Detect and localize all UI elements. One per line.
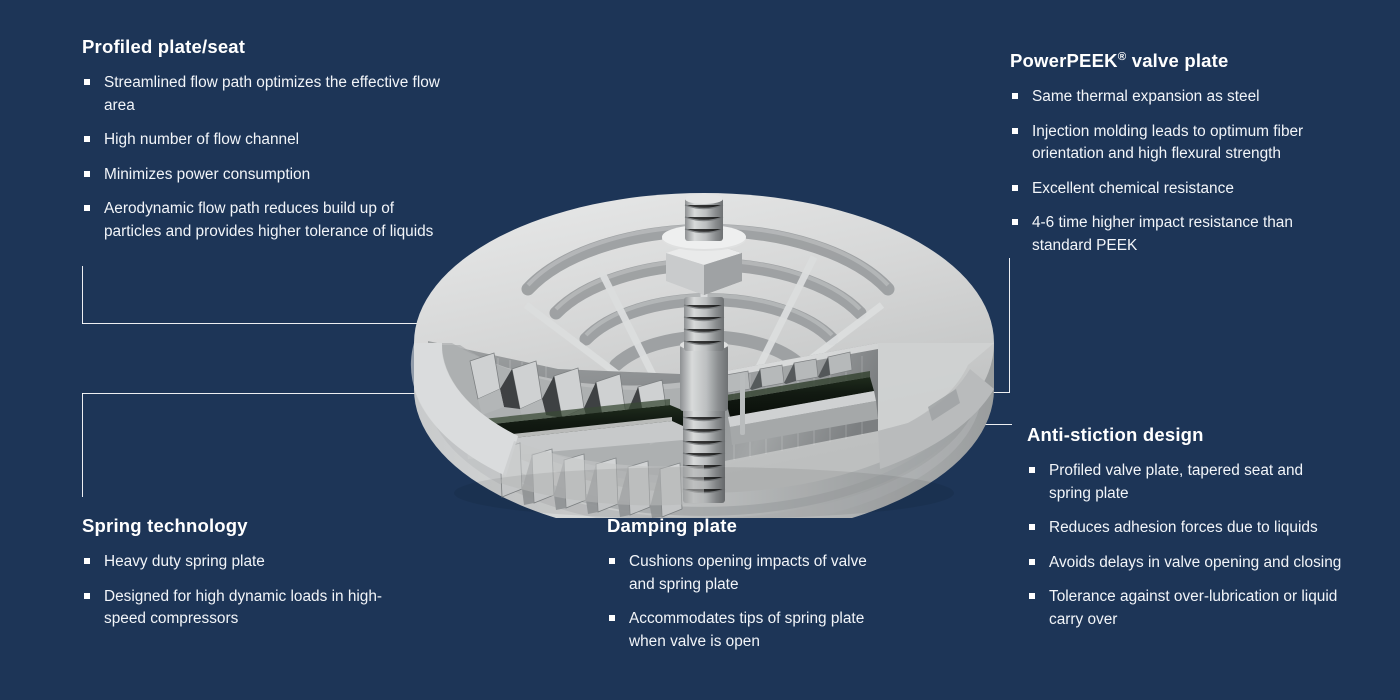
list-item-text: Designed for high dynamic loads in high-… — [104, 588, 382, 627]
bullet-icon — [1029, 593, 1035, 599]
leader-profiled-vertical — [82, 266, 83, 324]
list-item-text: High number of flow channel — [104, 131, 299, 148]
feature-block-damping-plate: Damping plate Cushions opening impacts o… — [607, 515, 867, 653]
list-item: Tolerance against over-lubrication or li… — [1027, 586, 1347, 631]
list-item: Reduces adhesion forces due to liquids — [1027, 517, 1347, 539]
bullet-icon — [84, 593, 90, 599]
list-item-text: Injection molding leads to optimum fiber… — [1032, 123, 1303, 162]
list-item-text: Cushions opening impacts of valve and sp… — [629, 553, 867, 592]
bullet-icon — [84, 136, 90, 142]
bullet-icon — [1012, 128, 1018, 134]
diagram-canvas: Profiled plate/seat Streamlined flow pat… — [0, 0, 1400, 700]
list-item: Streamlined flow path optimizes the effe… — [82, 72, 442, 117]
list-item-text: Profiled valve plate, tapered seat and s… — [1049, 462, 1303, 501]
list-item-text: Aerodynamic flow path reduces build up o… — [104, 200, 433, 239]
feature-block-powerpeek-valve-plate: PowerPEEK® valve plate Same thermal expa… — [1010, 50, 1350, 257]
bullet-icon — [84, 171, 90, 177]
list-item-text: 4-6 time higher impact resistance than s… — [1032, 214, 1293, 253]
list-item: Same thermal expansion as steel — [1010, 86, 1350, 108]
feature-title-powerpeek-valve-plate: PowerPEEK® valve plate — [1010, 50, 1350, 72]
list-item-text: Avoids delays in valve opening and closi… — [1049, 554, 1341, 571]
bullet-icon — [1012, 219, 1018, 225]
compressor-valve-illustration — [408, 193, 998, 518]
list-item-text: Tolerance against over-lubrication or li… — [1049, 588, 1337, 627]
list-item: Designed for high dynamic loads in high-… — [82, 586, 412, 631]
bullet-icon — [1029, 524, 1035, 530]
feature-list-profiled-plate-seat: Streamlined flow path optimizes the effe… — [82, 72, 442, 243]
feature-title-profiled-plate-seat: Profiled plate/seat — [82, 36, 442, 58]
list-item: Excellent chemical resistance — [1010, 178, 1350, 200]
list-item: Injection molding leads to optimum fiber… — [1010, 121, 1350, 166]
bullet-icon — [84, 558, 90, 564]
list-item: Minimizes power consumption — [82, 164, 442, 186]
list-item-text: Same thermal expansion as steel — [1032, 88, 1260, 105]
feature-title-damping-plate: Damping plate — [607, 515, 867, 537]
list-item: 4-6 time higher impact resistance than s… — [1010, 212, 1350, 257]
feature-list-spring-technology: Heavy duty spring plate Designed for hig… — [82, 551, 412, 630]
title-suffix: valve plate — [1126, 50, 1228, 71]
list-item-text: Streamlined flow path optimizes the effe… — [104, 74, 440, 113]
list-item-text: Minimizes power consumption — [104, 166, 310, 183]
list-item-text: Heavy duty spring plate — [104, 553, 265, 570]
list-item-text: Accommodates tips of spring plate when v… — [629, 610, 864, 649]
bullet-icon — [609, 558, 615, 564]
feature-list-powerpeek-valve-plate: Same thermal expansion as steel Injectio… — [1010, 86, 1350, 257]
list-item: Cushions opening impacts of valve and sp… — [607, 551, 867, 596]
bullet-icon — [84, 205, 90, 211]
bullet-icon — [1029, 467, 1035, 473]
list-item: Avoids delays in valve opening and closi… — [1027, 552, 1347, 574]
leader-powerpeek-vertical — [1009, 258, 1010, 392]
list-item-text: Reduces adhesion forces due to liquids — [1049, 519, 1318, 536]
leader-profiled-horizontal — [82, 323, 440, 324]
feature-title-anti-stiction-design: Anti-stiction design — [1027, 424, 1347, 446]
bullet-icon — [609, 615, 615, 621]
list-item: Heavy duty spring plate — [82, 551, 412, 573]
bullet-icon — [1029, 559, 1035, 565]
bullet-icon — [1012, 93, 1018, 99]
list-item: Profiled valve plate, tapered seat and s… — [1027, 460, 1347, 505]
feature-title-spring-technology: Spring technology — [82, 515, 412, 537]
feature-list-damping-plate: Cushions opening impacts of valve and sp… — [607, 551, 867, 653]
brand-name: PowerPEEK — [1010, 50, 1118, 71]
feature-block-anti-stiction-design: Anti-stiction design Profiled valve plat… — [1027, 424, 1347, 631]
list-item: Aerodynamic flow path reduces build up o… — [82, 198, 442, 243]
feature-block-profiled-plate-seat: Profiled plate/seat Streamlined flow pat… — [82, 36, 442, 243]
leader-spring-vertical — [82, 393, 83, 497]
list-item: High number of flow channel — [82, 129, 442, 151]
bullet-icon — [1012, 185, 1018, 191]
list-item: Accommodates tips of spring plate when v… — [607, 608, 867, 653]
feature-block-spring-technology: Spring technology Heavy duty spring plat… — [82, 515, 412, 631]
list-item-text: Excellent chemical resistance — [1032, 180, 1234, 197]
bullet-icon — [84, 79, 90, 85]
feature-list-anti-stiction-design: Profiled valve plate, tapered seat and s… — [1027, 460, 1347, 631]
